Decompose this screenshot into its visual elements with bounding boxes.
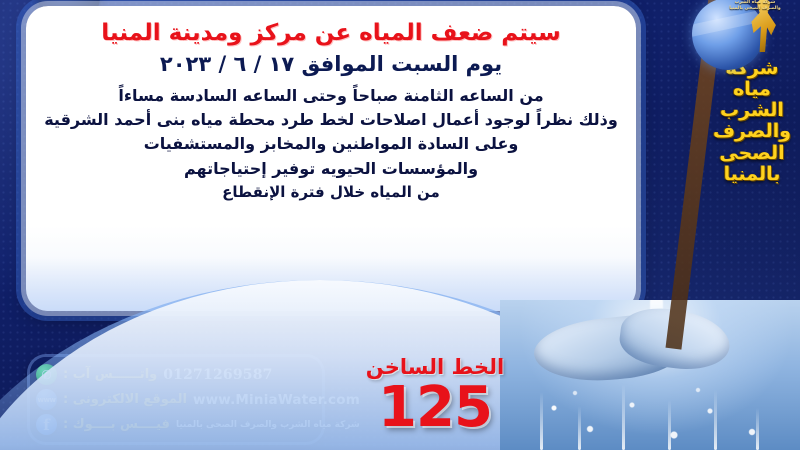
water-streak-5 xyxy=(714,390,717,450)
vertical-company-name: شركة مياه الشرب والصرف الصحى بالمنيا xyxy=(710,58,794,184)
hotline-number: 125 xyxy=(345,380,525,436)
body-line-reason: وذلك نظراً لوجود أعمال اصلاحات لخط طرد م… xyxy=(44,108,618,132)
hotline-block: الخط الساخن 125 xyxy=(345,357,525,436)
body-line-audience: وعلى السادة المواطنين والمخابز والمستشفي… xyxy=(144,132,519,156)
body-line-hours: من الساعه الثامنة صباحاً وحتى الساعه الس… xyxy=(118,84,543,108)
announcement-panel: سيتم ضعف المياه عن مركز ومدينة المنيا يو… xyxy=(26,6,636,311)
brand-word-4: والصرف xyxy=(713,121,791,141)
date-text: يوم السبت الموافق ١٧ / ٦ / ٢٠٢٣ xyxy=(160,52,502,77)
water-streak-3 xyxy=(622,384,625,450)
water-streak-1 xyxy=(540,392,543,450)
brand-word-6: بالمنيا xyxy=(724,164,781,184)
body-line-closing: من المياه خلال فترة الإنقطاع xyxy=(222,181,440,204)
water-droplets xyxy=(500,300,800,450)
company-logo: شركة مياه الشرب والصرف الصحى بالمنيا xyxy=(690,0,786,72)
headline-text: سيتم ضعف المياه عن مركز ومدينة المنيا xyxy=(101,20,560,46)
brand-word-3: الشرب xyxy=(720,100,784,120)
water-outage-poster: سيتم ضعف المياه عن مركز ومدينة المنيا يو… xyxy=(0,0,800,450)
brand-word-5: الصحى xyxy=(719,143,784,163)
water-streak-6 xyxy=(756,408,759,450)
water-streak-2 xyxy=(578,406,581,450)
water-streak-4 xyxy=(668,400,671,450)
hands-with-water-image xyxy=(500,300,800,450)
brand-word-2: مياه xyxy=(733,79,771,99)
body-line-institutions: والمؤسسات الحيويه توفير إحتياجاتهم xyxy=(184,157,478,181)
logo-caption: شركة مياه الشرب والصرف الصحى بالمنيا xyxy=(726,0,784,11)
